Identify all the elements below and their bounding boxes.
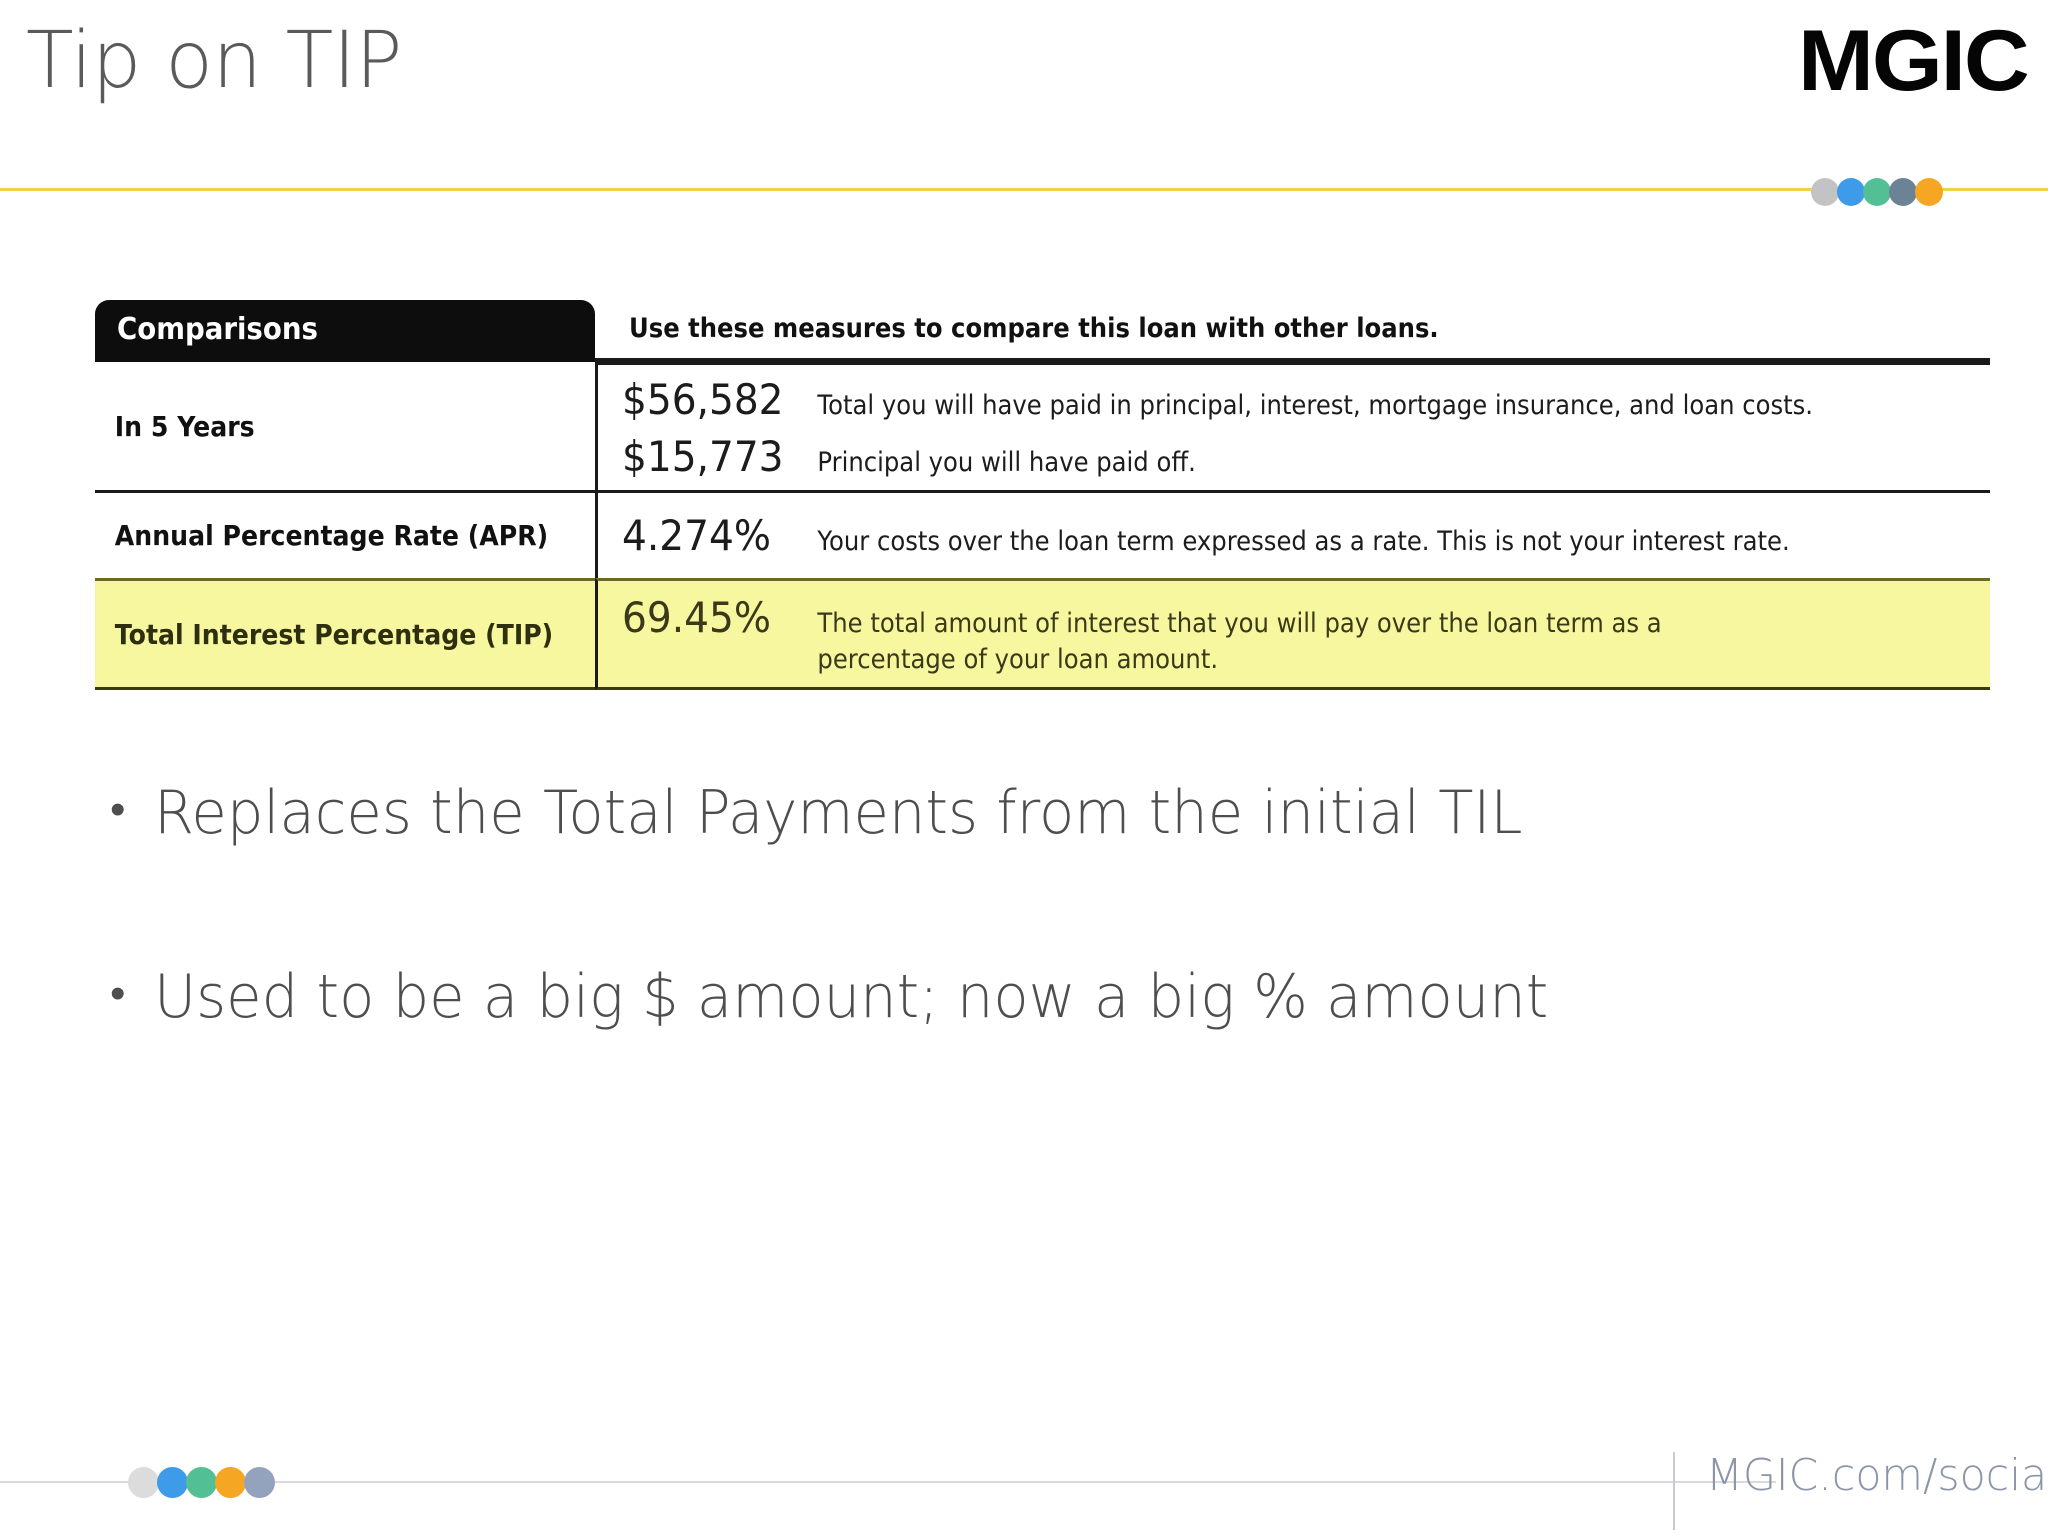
row-label-cell: Annual Percentage Rate (APR) xyxy=(95,490,595,578)
dot-blue-icon xyxy=(157,1467,188,1498)
row-label-cell: In 5 Years xyxy=(95,362,595,490)
row-label: In 5 Years xyxy=(95,410,255,443)
slide-header: Tip on TIP MGIC xyxy=(0,0,2048,200)
value-line: $56,582 Total you will have paid in prin… xyxy=(598,375,1990,424)
row-value: $15,773 xyxy=(622,432,799,481)
footer-vertical-divider xyxy=(1673,1452,1675,1530)
header-divider-rule xyxy=(0,188,2048,191)
bullet-point-icon: • xyxy=(110,964,154,1023)
value-line: 69.45% The total amount of interest that… xyxy=(598,593,1990,677)
row-value: 69.45% xyxy=(622,593,799,642)
dot-green-icon xyxy=(1863,178,1891,206)
bullet-item-1: • Replaces the Total Payments from the i… xyxy=(110,780,1960,846)
page-title: Tip on TIP xyxy=(26,22,402,100)
value-line: 4.274% Your costs over the loan term exp… xyxy=(598,511,1898,560)
table-row-in-5-years: In 5 Years $56,582 Total you will have p… xyxy=(95,362,1990,490)
row-value-description: Your costs over the loan term expressed … xyxy=(812,526,1790,557)
row-value-description: Total you will have paid in principal, i… xyxy=(812,390,1813,421)
dot-slate-icon xyxy=(244,1467,275,1498)
dot-green-icon xyxy=(186,1467,217,1498)
row-label: Total Interest Percentage (TIP) xyxy=(95,618,553,651)
comparisons-table: Comparisons Use these measures to compar… xyxy=(95,300,1990,690)
footer-dot-row xyxy=(128,1467,358,1499)
mgic-logo: MGIC xyxy=(1798,18,2028,104)
row-value: $56,582 xyxy=(622,375,799,424)
table-row-annual-percentage-rate: Annual Percentage Rate (APR) 4.274% Your… xyxy=(95,490,1990,578)
row-label-cell: Total Interest Percentage (TIP) xyxy=(95,578,595,690)
comparisons-label: Comparisons xyxy=(117,312,318,347)
bullet-text: Used to be a big $ amount; now a big % a… xyxy=(154,964,1548,1030)
row-label: Annual Percentage Rate (APR) xyxy=(95,519,548,552)
dot-orange-icon xyxy=(215,1467,246,1498)
dot-gray-icon xyxy=(1811,178,1839,206)
table-header-desc-cell: Use these measures to compare this loan … xyxy=(595,300,1990,362)
row-value-description: Principal you will have paid off. xyxy=(812,447,1196,478)
row-values-cell: $56,582 Total you will have paid in prin… xyxy=(595,362,1990,490)
table-header-row: Comparisons Use these measures to compar… xyxy=(95,300,1990,362)
comparisons-description: Use these measures to compare this loan … xyxy=(629,313,1854,344)
table-header-tab-cell: Comparisons xyxy=(95,300,595,362)
dot-gray-icon xyxy=(128,1467,159,1498)
row-value-description: The total amount of interest that you wi… xyxy=(812,606,1798,677)
header-dot-row xyxy=(1811,178,2041,208)
table-row-total-interest-percentage: Total Interest Percentage (TIP) 69.45% T… xyxy=(95,578,1990,690)
row-values-cell: 4.274% Your costs over the loan term exp… xyxy=(595,490,1990,578)
bullet-text: Replaces the Total Payments from the ini… xyxy=(154,780,1522,846)
dot-blue-icon xyxy=(1837,178,1865,206)
bullet-item-2: • Used to be a big $ amount; now a big %… xyxy=(110,964,1960,1030)
bullet-list: • Replaces the Total Payments from the i… xyxy=(110,780,1960,1030)
bullet-point-icon: • xyxy=(110,780,154,839)
footer-link-mgic-social[interactable]: MGIC.com/social xyxy=(1706,1450,2048,1501)
row-values-cell: 69.45% The total amount of interest that… xyxy=(595,578,1990,690)
value-line: $15,773 Principal you will have paid off… xyxy=(598,432,1990,481)
dot-orange-icon xyxy=(1915,178,1943,206)
row-value: 4.274% xyxy=(622,511,799,560)
dot-slate-icon xyxy=(1889,178,1917,206)
